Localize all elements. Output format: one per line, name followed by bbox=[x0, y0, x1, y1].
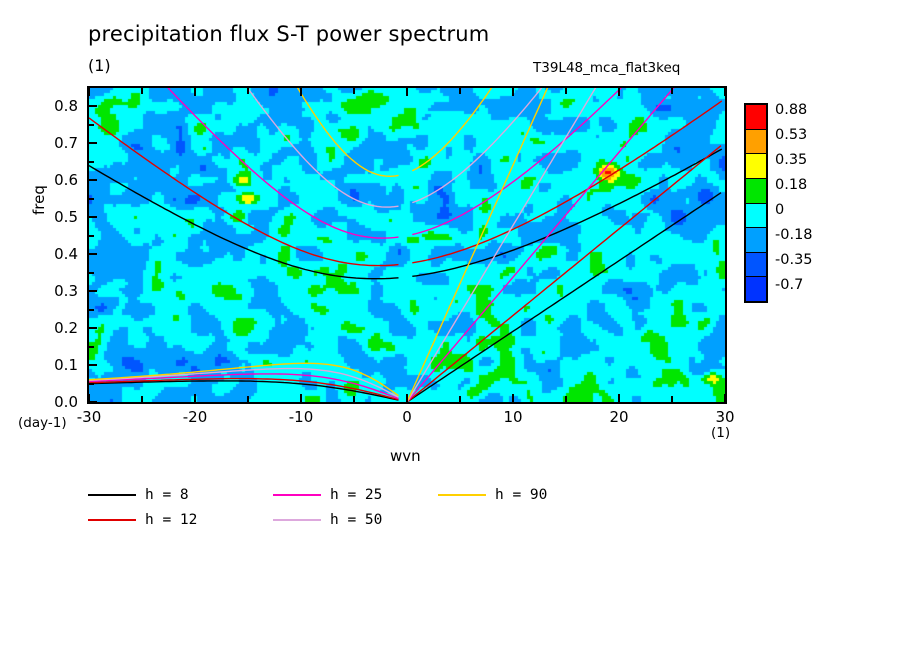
plot-area bbox=[87, 86, 727, 404]
dispersion-curve bbox=[412, 88, 649, 235]
x-tick-label: -10 bbox=[285, 408, 317, 426]
x-tick-label: 0 bbox=[391, 408, 423, 426]
colorbar-label-1: 0.53 bbox=[775, 127, 807, 143]
y-tick-label: 0.2 bbox=[30, 319, 78, 337]
dispersion-curve bbox=[407, 146, 721, 402]
legend-entry-h-50[interactable]: h = 50 bbox=[273, 512, 382, 528]
dispersion-curve bbox=[144, 88, 398, 238]
colorbar-band-6 bbox=[746, 252, 766, 277]
legend-line-swatch-icon bbox=[438, 494, 486, 496]
colorbar bbox=[744, 103, 768, 303]
y-tick-label: 0.8 bbox=[30, 97, 78, 115]
y-tick-label: 0.7 bbox=[30, 134, 78, 152]
y-axis-label: freq bbox=[30, 185, 48, 215]
legend: h = 8h = 12h = 25h = 50h = 90 bbox=[88, 485, 608, 533]
legend-entry-h-8[interactable]: h = 8 bbox=[88, 487, 189, 503]
x-tick-label: 30 bbox=[709, 408, 741, 426]
x-tick-label: -30 bbox=[73, 408, 105, 426]
legend-line-swatch-icon bbox=[88, 519, 136, 521]
dispersion-curve bbox=[407, 88, 611, 402]
colorbar-band-7 bbox=[746, 276, 766, 301]
x-tick-label: -20 bbox=[179, 408, 211, 426]
dispersion-curve bbox=[412, 101, 722, 263]
y-tick-label: 0.1 bbox=[30, 356, 78, 374]
dispersion-curve bbox=[412, 88, 560, 203]
dispersion-curve bbox=[229, 88, 399, 207]
legend-entry-h-12[interactable]: h = 12 bbox=[88, 512, 197, 528]
legend-entry-label: h = 25 bbox=[330, 487, 382, 503]
legend-entry-label: h = 90 bbox=[495, 487, 547, 503]
dispersion-curves-overlay bbox=[89, 88, 725, 402]
dispersion-curve bbox=[89, 381, 399, 400]
colorbar-band-2 bbox=[746, 153, 766, 178]
dispersion-curve bbox=[407, 88, 695, 402]
colorbar-label-4: 0 bbox=[775, 202, 784, 218]
legend-entry-label: h = 50 bbox=[330, 512, 382, 528]
colorbar-band-5 bbox=[746, 227, 766, 252]
legend-entry-label: h = 8 bbox=[145, 487, 189, 503]
colorbar-label-3: 0.18 bbox=[775, 177, 807, 193]
dispersion-curve bbox=[407, 88, 560, 402]
legend-line-swatch-icon bbox=[273, 494, 321, 496]
page-title: precipitation flux S-T power spectrum bbox=[88, 22, 489, 46]
case-id-label: T39L48_mca_flat3keq bbox=[533, 60, 680, 76]
legend-entry-label: h = 12 bbox=[145, 512, 197, 528]
subtitle-left: (1) bbox=[88, 56, 111, 75]
colorbar-label-5: -0.18 bbox=[775, 227, 813, 243]
dispersion-curve bbox=[412, 88, 510, 171]
legend-line-swatch-icon bbox=[88, 494, 136, 496]
colorbar-label-6: -0.35 bbox=[775, 252, 813, 268]
colorbar-label-0: 0.88 bbox=[775, 102, 807, 118]
x-axis-unit-note: (day-1) bbox=[18, 415, 67, 431]
x-tick-label: 10 bbox=[497, 408, 529, 426]
legend-entry-h-25[interactable]: h = 25 bbox=[273, 487, 382, 503]
dispersion-curve bbox=[284, 88, 399, 176]
legend-entry-h-90[interactable]: h = 90 bbox=[438, 487, 547, 503]
colorbar-band-4 bbox=[746, 203, 766, 228]
colorbar-label-7: -0.7 bbox=[775, 277, 803, 293]
x-axis-label: wvn bbox=[390, 447, 421, 465]
colorbar-band-3 bbox=[746, 178, 766, 203]
colorbar-label-2: 0.35 bbox=[775, 152, 807, 168]
legend-line-swatch-icon bbox=[273, 519, 321, 521]
colorbar-band-0 bbox=[746, 105, 766, 129]
colorbar-band-1 bbox=[746, 129, 766, 154]
y-tick-label: 0.3 bbox=[30, 282, 78, 300]
x-tick-label: 20 bbox=[603, 408, 635, 426]
dispersion-curve bbox=[89, 379, 399, 400]
y-tick-label: 0.0 bbox=[30, 393, 78, 411]
x-axis-right-note: (1) bbox=[711, 425, 730, 441]
y-tick-label: 0.4 bbox=[30, 245, 78, 263]
